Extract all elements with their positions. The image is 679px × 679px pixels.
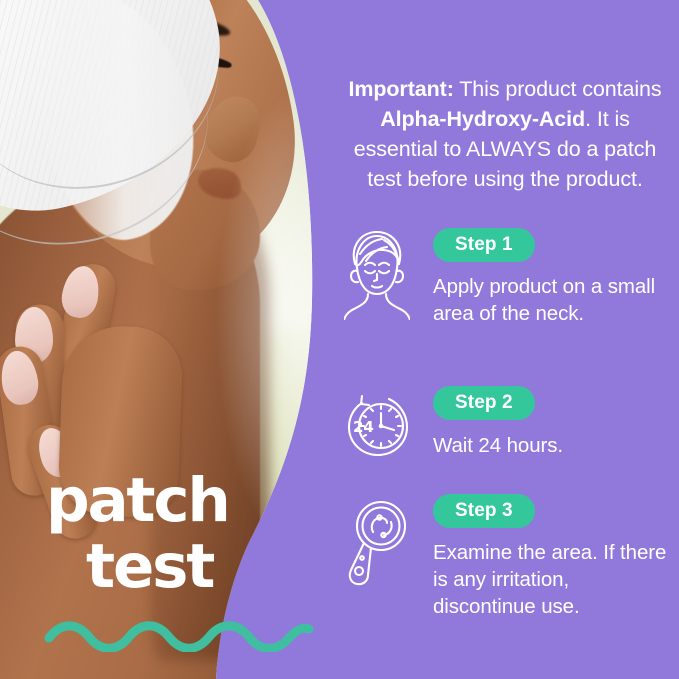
page-title: patch test xyxy=(46,468,346,600)
step-1-body: Step 1 Apply product on a small area of … xyxy=(416,228,674,327)
step-3-icon-wrap xyxy=(338,494,416,586)
step-1-badge: Step 1 xyxy=(433,228,535,262)
step-1-text: Apply product on a small area of the nec… xyxy=(433,273,674,327)
step-2-text: Wait 24 hours. xyxy=(433,432,674,459)
title-line-1: patch xyxy=(46,468,346,534)
step-2-badge: Step 2 xyxy=(433,386,535,420)
step-3-body: Step 3 Examine the area. If there is any… xyxy=(416,494,674,620)
face-with-hair-towel-icon xyxy=(344,228,410,320)
magnifying-glass-skin-icon xyxy=(346,498,408,586)
clock-hours-label: 24 xyxy=(353,418,374,436)
clock-24-hours-icon: 24 xyxy=(345,392,409,456)
notice-part-1: This product contains xyxy=(454,77,662,101)
wavy-line-icon xyxy=(43,618,315,652)
step-2-icon-wrap: 24 xyxy=(338,386,416,456)
important-label: Important: xyxy=(348,77,453,101)
step-3-badge: Step 3 xyxy=(433,494,535,528)
step-1-icon-wrap xyxy=(338,228,416,320)
content-column: Important: This product contains Alpha-H… xyxy=(330,0,679,679)
step-2-body: Step 2 Wait 24 hours. xyxy=(416,386,674,459)
step-3: Step 3 Examine the area. If there is any… xyxy=(338,494,674,620)
step-3-text: Examine the area. If there is any irrita… xyxy=(433,539,674,620)
important-notice: Important: This product contains Alpha-H… xyxy=(346,74,664,194)
ingredient-name: Alpha-Hydroxy-Acid xyxy=(380,107,585,131)
patch-test-poster: patch test Important: This product conta… xyxy=(0,0,679,679)
step-2: 24 Step 2 Wait 24 hours. xyxy=(338,386,674,459)
step-1: Step 1 Apply product on a small area of … xyxy=(338,228,674,327)
title-line-2: test xyxy=(86,534,346,600)
